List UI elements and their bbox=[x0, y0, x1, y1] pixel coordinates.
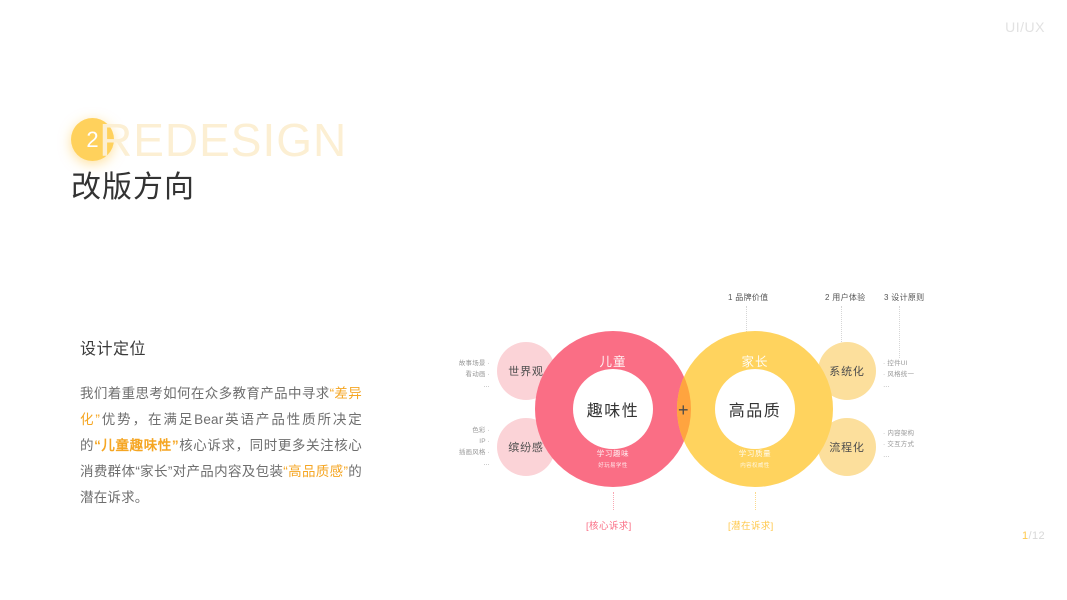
ring-parents-bottom-line1: 学习质量 bbox=[677, 448, 833, 459]
ring-children-bottom-line2: 好玩易学性 bbox=[535, 461, 691, 469]
notes-systematization-2: … bbox=[883, 380, 943, 391]
notes-systematization-0: · 控件UI bbox=[883, 358, 943, 369]
leader-latent-demand bbox=[755, 492, 756, 510]
notes-worldview-0: 故事场景 · bbox=[438, 358, 490, 369]
notes-process: · 内容架构 · 交互方式 … bbox=[883, 428, 943, 461]
copy-paragraph: 我们着重思考如何在众多教育产品中寻求“差异化”优势，在满足Bear英语产品性质所… bbox=[80, 381, 362, 511]
copy-seg-1: 我们着重思考如何在众多教育产品中寻求 bbox=[80, 386, 330, 401]
notes-process-1: · 交互方式 bbox=[883, 439, 943, 450]
section-number: 2 bbox=[86, 129, 98, 151]
ring-parents: 家长 学习质量 内容权威性 高品质 bbox=[677, 331, 833, 487]
copy-highlight-child-fun: “儿童趣味性” bbox=[94, 438, 179, 453]
section-word-mark: REDESIGN bbox=[99, 115, 347, 165]
ring-children: 儿童 学习趣味 好玩易学性 趣味性 bbox=[535, 331, 691, 487]
copy-highlight-quality: “高品质感” bbox=[283, 464, 348, 479]
notes-colorful-3: … bbox=[434, 458, 490, 469]
notes-worldview-1: 看动画 · bbox=[438, 369, 490, 380]
leader-design-principles bbox=[899, 306, 900, 358]
notes-worldview-2: … bbox=[438, 380, 490, 391]
notes-colorful-0: 色彩 · bbox=[434, 425, 490, 436]
notes-process-0: · 内容架构 bbox=[883, 428, 943, 439]
ring-children-top-label: 儿童 bbox=[535, 351, 691, 370]
ring-parents-top-label: 家长 bbox=[677, 351, 833, 370]
plus-symbol: + bbox=[678, 401, 689, 419]
caption-brand-value: 1 品牌价值 bbox=[728, 292, 768, 303]
ring-parents-core-label: 高品质 bbox=[729, 397, 782, 421]
ring-parents-bottom-line2: 内容权威性 bbox=[677, 461, 833, 469]
ring-children-bottom-line1: 学习趣味 bbox=[535, 448, 691, 459]
bracket-latent-demand: [潜在诉求] bbox=[728, 518, 774, 532]
notes-colorful: 色彩 · IP · 插画风格 · … bbox=[434, 425, 490, 469]
satellite-process-label: 流程化 bbox=[829, 439, 864, 455]
design-positioning-block: 设计定位 我们着重思考如何在众多教育产品中寻求“差异化”优势，在满足Bear英语… bbox=[80, 335, 362, 511]
leader-core-demand bbox=[613, 492, 614, 510]
venn-diagram: 1 品牌价值 2 用户体验 3 设计原则 世界观 缤纷感 系统化 流程化 儿童 … bbox=[440, 280, 960, 550]
satellite-systematization-label: 系统化 bbox=[829, 363, 864, 379]
ring-children-bottom-label: 学习趣味 好玩易学性 bbox=[535, 448, 691, 469]
total-page-count: /12 bbox=[1029, 530, 1046, 542]
caption-design-principles: 3 设计原则 bbox=[884, 292, 924, 303]
notes-systematization-1: · 风格统一 bbox=[883, 369, 943, 380]
bracket-core-demand: [核心诉求] bbox=[586, 518, 632, 532]
notes-worldview: 故事场景 · 看动画 · … bbox=[438, 358, 490, 391]
ring-parents-bottom-label: 学习质量 内容权威性 bbox=[677, 448, 833, 469]
header-label: UI/UX bbox=[1005, 19, 1045, 35]
slide-canvas: UI/UX 1/12 2 REDESIGN 改版方向 设计定位 我们着重思考如何… bbox=[0, 0, 1067, 600]
caption-user-experience: 2 用户体验 bbox=[825, 292, 865, 303]
notes-colorful-1: IP · bbox=[434, 436, 490, 447]
section-subtitle: 改版方向 bbox=[71, 168, 195, 208]
footer-pagination: 1/12 bbox=[1022, 530, 1045, 542]
copy-heading: 设计定位 bbox=[80, 335, 362, 359]
notes-systematization: · 控件UI · 风格统一 … bbox=[883, 358, 943, 391]
notes-process-2: … bbox=[883, 450, 943, 461]
notes-colorful-2: 插画风格 · bbox=[434, 447, 490, 458]
ring-children-core-label: 趣味性 bbox=[587, 397, 640, 421]
